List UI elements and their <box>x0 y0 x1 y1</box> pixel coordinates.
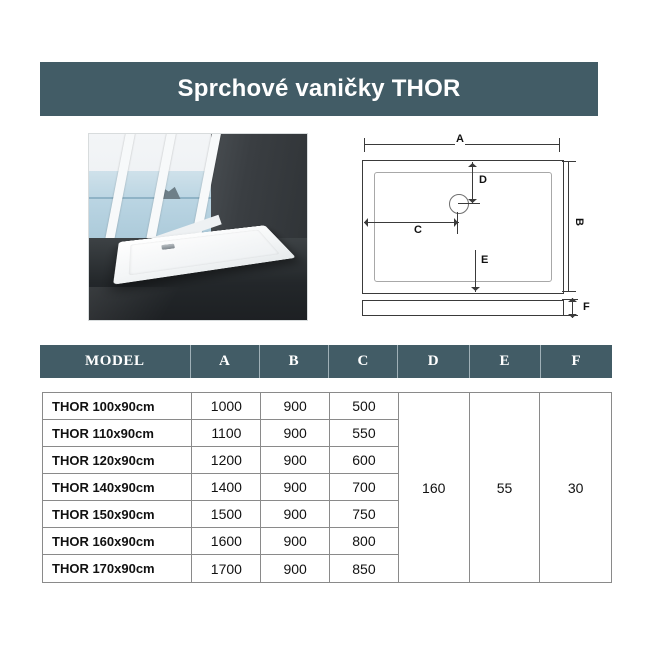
table-header-b: B <box>260 345 329 378</box>
drain-circle-icon <box>449 194 469 214</box>
table-cell-c: 600 <box>330 447 398 474</box>
table-column-b: 900 900 900 900 900 900 900 <box>261 393 330 582</box>
table-row: THOR 150x90cm <box>43 501 191 528</box>
table-cell-f-merged: 30 <box>540 393 611 582</box>
table-cell-c: 700 <box>330 474 398 501</box>
dim-label-c: C <box>413 225 423 236</box>
table-cell-b: 900 <box>261 474 329 501</box>
dim-e-line <box>475 250 476 292</box>
table-cell-e-merged: 55 <box>470 393 540 582</box>
dim-b-tick-bottom <box>562 291 576 292</box>
side-profile-outline <box>362 300 564 316</box>
spec-table-header: MODEL A B C D E F <box>40 345 612 378</box>
photo-horizon-line <box>89 197 211 199</box>
dim-label-f: F <box>582 302 591 313</box>
table-cell-b: 900 <box>261 528 329 555</box>
dim-b-tick-top <box>562 161 576 162</box>
table-column-model: THOR 100x90cm THOR 110x90cm THOR 120x90c… <box>43 393 192 582</box>
table-cell-a: 1600 <box>192 528 260 555</box>
table-cell-a: 1200 <box>192 447 260 474</box>
dim-d-line <box>472 162 473 204</box>
photo-floor-reflection <box>89 287 224 320</box>
dim-label-d: D <box>478 175 488 186</box>
table-column-e: 55 <box>470 393 541 582</box>
table-cell-a: 1500 <box>192 501 260 528</box>
table-cell-c: 850 <box>330 555 398 582</box>
table-cell-c: 500 <box>330 393 398 420</box>
dim-label-e: E <box>480 255 489 266</box>
table-cell-b: 900 <box>261 393 329 420</box>
table-header-a: A <box>191 345 260 378</box>
table-header-model: MODEL <box>40 345 191 378</box>
dim-f-extension-bottom <box>562 315 578 316</box>
top-view-basin <box>374 172 552 282</box>
table-column-f: 30 <box>540 393 611 582</box>
table-cell-a: 1400 <box>192 474 260 501</box>
table-row: THOR 160x90cm <box>43 528 191 555</box>
table-cell-c: 800 <box>330 528 398 555</box>
table-cell-b: 900 <box>261 420 329 447</box>
dim-label-a: A <box>455 134 465 145</box>
product-photo <box>88 133 308 321</box>
table-cell-d-merged: 160 <box>399 393 469 582</box>
table-column-c: 500 550 600 700 750 800 850 <box>330 393 399 582</box>
dim-f-extension-top <box>562 299 578 300</box>
table-row: THOR 120x90cm <box>43 447 191 474</box>
table-header-e: E <box>470 345 541 378</box>
dim-c-extension <box>457 212 458 234</box>
page-title: Sprchové vaničky THOR <box>178 75 461 103</box>
dim-d-extension <box>458 203 480 204</box>
dim-a-tick-right <box>559 138 560 152</box>
table-header-c: C <box>329 345 398 378</box>
table-cell-a: 1700 <box>192 555 260 582</box>
table-cell-a: 1000 <box>192 393 260 420</box>
table-cell-b: 900 <box>261 501 329 528</box>
table-row: THOR 140x90cm <box>43 474 191 501</box>
product-spec-sheet: Sprchové vaničky THOR A <box>0 0 650 650</box>
dim-label-b: B <box>572 218 585 226</box>
table-cell-b: 900 <box>261 555 329 582</box>
table-cell-c: 750 <box>330 501 398 528</box>
dim-b-line <box>568 161 569 292</box>
table-cell-c: 550 <box>330 420 398 447</box>
technical-drawing: A D C B E F <box>356 132 606 322</box>
table-header-d: D <box>398 345 469 378</box>
title-banner: Sprchové vaničky THOR <box>40 62 598 116</box>
spec-table-body: THOR 100x90cm THOR 110x90cm THOR 120x90c… <box>42 392 612 583</box>
table-row: THOR 110x90cm <box>43 420 191 447</box>
table-row: THOR 170x90cm <box>43 555 191 582</box>
dim-c-line <box>364 222 459 223</box>
table-column-a: 1000 1100 1200 1400 1500 1600 1700 <box>192 393 261 582</box>
table-column-d: 160 <box>399 393 470 582</box>
dim-a-tick-left <box>364 138 365 152</box>
table-cell-a: 1100 <box>192 420 260 447</box>
table-row: THOR 100x90cm <box>43 393 191 420</box>
table-cell-b: 900 <box>261 447 329 474</box>
table-header-f: F <box>541 345 612 378</box>
